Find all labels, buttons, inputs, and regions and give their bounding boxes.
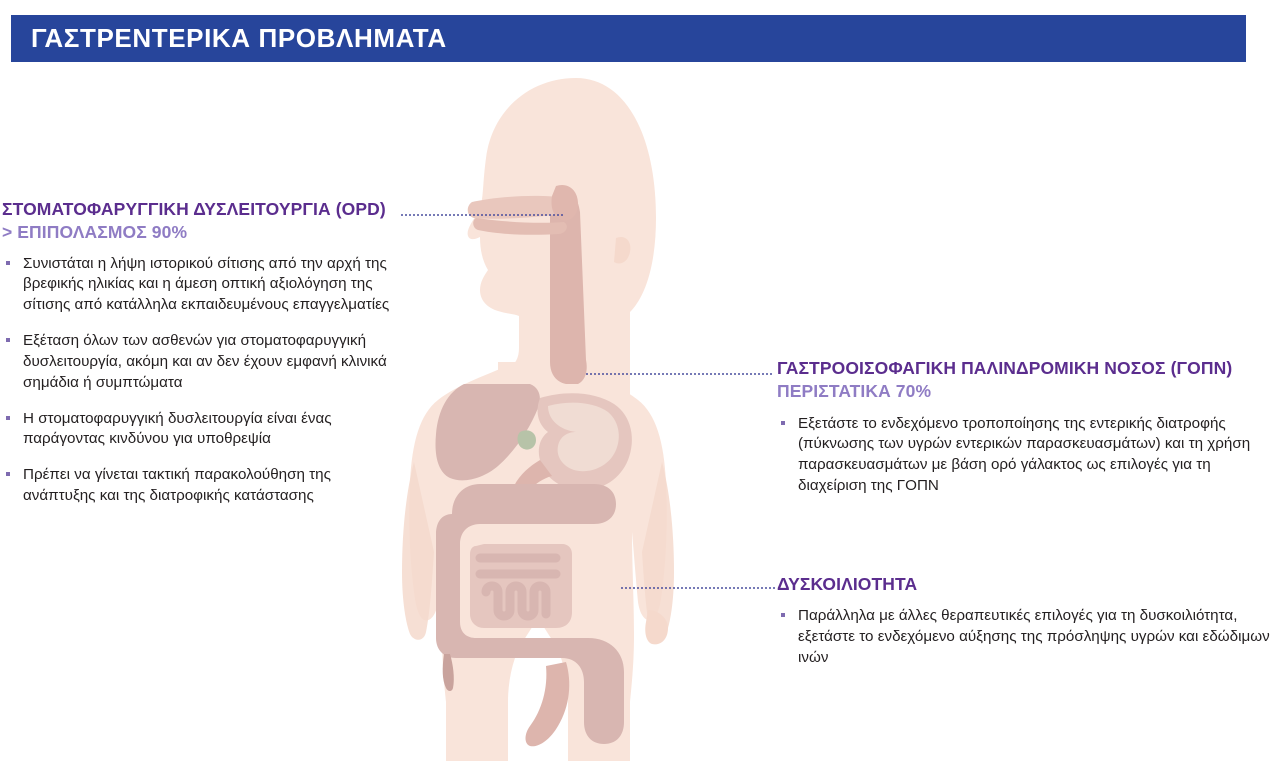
section-heading-gerd: ΓΑΣΤΡΟΟΙΣΟΦΑΓΙΚΗ ΠΑΛΙΝΔΡΟΜΙΚΗ ΝΟΣΟΣ (ΓΟΠ… <box>777 357 1280 404</box>
bullet-list-opd: Συνιστάται η λήψη ιστορικού σίτισης από … <box>2 254 398 507</box>
liver <box>436 384 540 480</box>
bullet-list-constipation: Παράλληλα με άλλες θεραπευτικές επιλογές… <box>777 606 1280 668</box>
section-heading-opd: ΣΤΟΜΑΤΟΦΑΡΥΓΓΙΚΗ ΔΥΣΛΕΙΤΟΥΡΓΙΑ (OPD) > Ε… <box>2 198 398 245</box>
section-heading-gerd-stat: ΠΕΡΙΣΤΑΤΙΚΑ 70% <box>777 381 931 401</box>
small-intestine <box>470 544 572 628</box>
section-gerd: ΓΑΣΤΡΟΟΙΣΟΦΑΓΙΚΗ ΠΑΛΙΝΔΡΟΜΙΚΗ ΝΟΣΟΣ (ΓΟΠ… <box>777 357 1280 497</box>
list-item-text: Παράλληλα με άλλες θεραπευτικές επιλογές… <box>798 607 1270 666</box>
list-item: Συνιστάται η λήψη ιστορικού σίτισης από … <box>2 254 398 316</box>
rectum <box>526 662 570 746</box>
bullet-marker-icon <box>6 261 10 265</box>
list-item-text: Εξέταση όλων των ασθενών για στοματοφαρυ… <box>23 332 387 391</box>
bullet-list-gerd: Εξετάστε το ενδεχόμενο τροποποίησης της … <box>777 414 1280 497</box>
leader-line-gerd <box>585 373 773 375</box>
section-heading-opd-main: ΣΤΟΜΑΤΟΦΑΡΥΓΓΙΚΗ ΔΥΣΛΕΙΤΟΥΡΓΙΑ (OPD) <box>2 199 386 219</box>
bullet-marker-icon <box>781 421 785 425</box>
child-body-illustration <box>380 62 800 761</box>
list-item-text: Η στοματοφαρυγγική δυσλειτουργία είναι έ… <box>23 410 332 448</box>
list-item-text: Συνιστάται η λήψη ιστορικού σίτισης από … <box>23 255 389 314</box>
bullet-marker-icon <box>781 613 785 617</box>
page-title: ΓΑΣΤΡΕΝΤΕΡΙΚΑ ΠΡΟΒΛΗΜΑΤΑ <box>11 23 447 54</box>
list-item-text: Πρέπει να γίνεται τακτική παρακολούθηση … <box>23 466 331 504</box>
section-opd: ΣΤΟΜΑΤΟΦΑΡΥΓΓΙΚΗ ΔΥΣΛΕΙΤΟΥΡΓΙΑ (OPD) > Ε… <box>2 198 398 507</box>
bullet-marker-icon <box>6 416 10 420</box>
section-heading-opd-stat: > ΕΠΙΠΟΛΑΣΜΟΣ 90% <box>2 222 187 242</box>
bullet-marker-icon <box>6 472 10 476</box>
leader-line-constipation <box>620 587 775 589</box>
section-heading-gerd-main: ΓΑΣΤΡΟΟΙΣΟΦΑΓΙΚΗ ΠΑΛΙΝΔΡΟΜΙΚΗ ΝΟΣΟΣ (ΓΟΠ… <box>777 358 1232 378</box>
header-bar: ΓΑΣΤΡΕΝΤΕΡΙΚΑ ΠΡΟΒΛΗΜΑΤΑ <box>11 15 1246 62</box>
bullet-marker-icon <box>6 338 10 342</box>
leader-line-opd <box>400 214 563 216</box>
torso <box>402 362 674 761</box>
list-item: Εξέταση όλων των ασθενών για στοματοφαρυ… <box>2 331 398 393</box>
section-constipation: ΔΥΣΚΟΙΛΙΟΤΗΤΑ Παράλληλα με άλλες θεραπευ… <box>777 573 1280 669</box>
list-item: Η στοματοφαρυγγική δυσλειτουργία είναι έ… <box>2 409 398 451</box>
stomach <box>510 393 632 518</box>
body-silhouette <box>468 78 656 407</box>
list-item: Παράλληλα με άλλες θεραπευτικές επιλογές… <box>777 606 1280 668</box>
list-item-text: Εξετάστε το ενδεχόμενο τροποποίησης της … <box>798 415 1250 494</box>
list-item: Πρέπει να γίνεται τακτική παρακολούθηση … <box>2 465 398 507</box>
large-intestine <box>436 484 624 744</box>
section-heading-constipation-main: ΔΥΣΚΟΙΛΙΟΤΗΤΑ <box>777 574 917 594</box>
list-item: Εξετάστε το ενδεχόμενο τροποποίησης της … <box>777 414 1280 497</box>
section-heading-constipation: ΔΥΣΚΟΙΛΙΟΤΗΤΑ <box>777 573 1280 596</box>
